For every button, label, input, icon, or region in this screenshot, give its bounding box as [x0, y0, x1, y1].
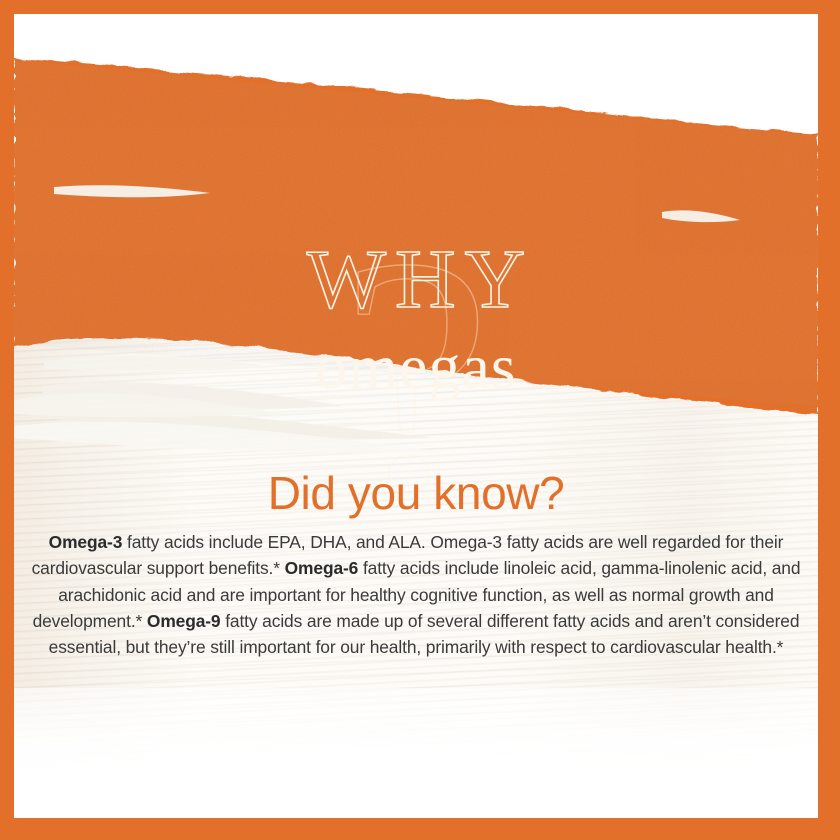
poster-canvas: ? WHY omegas Did you know? Omega-3 fatty… [14, 14, 818, 818]
body-term: Omega-3 [49, 532, 123, 552]
section-body-copy: Omega-3 fatty acids include EPA, DHA, an… [14, 529, 818, 661]
border-top [0, 0, 840, 14]
omega-info-poster: ? WHY omegas Did you know? Omega-3 fatty… [0, 0, 840, 840]
body-term: Omega-6 [285, 558, 359, 578]
border-left [0, 0, 14, 840]
border-right [818, 0, 840, 840]
section-heading: Did you know? [14, 469, 818, 519]
border-bottom [0, 818, 840, 840]
orange-brush-stroke [14, 14, 818, 818]
info-section: Did you know? Omega-3 fatty acids includ… [14, 469, 818, 661]
body-term: Omega-9 [147, 611, 221, 631]
